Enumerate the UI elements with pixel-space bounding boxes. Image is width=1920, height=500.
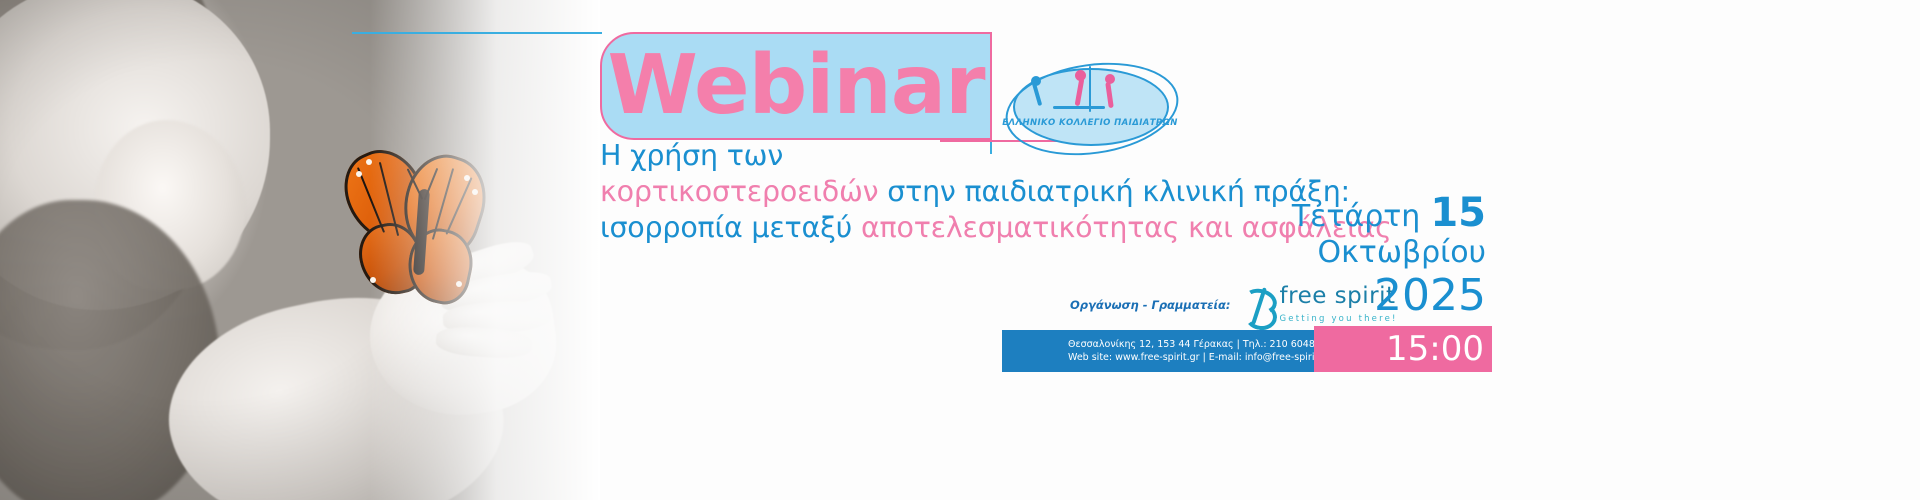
- title-line-1: Η χρήση των: [600, 138, 1300, 174]
- rule-horizontal-top: [352, 32, 602, 34]
- webinar-title: Η χρήση των κορτικοστεροειδών στην παιδι…: [600, 138, 1300, 246]
- logo-pole: [1089, 66, 1091, 112]
- webinar-badge: Webinar: [600, 32, 992, 140]
- event-date: Τετάρτη 15 Οκτωβρίου 2025: [1314, 196, 1492, 326]
- title-line2-seg1: κορτικοστεροειδών: [600, 175, 887, 208]
- title-line2-seg2: στην παιδιατρική κλινική πράξη:: [887, 175, 1350, 208]
- webinar-label: Webinar: [607, 45, 984, 127]
- date-day-of-week: Τετάρτη: [1292, 200, 1421, 234]
- date-year: 2025: [1314, 272, 1486, 320]
- title-line3-seg1: ισορροπία μεταξύ: [600, 211, 861, 244]
- logo-figure-pink-head: [1075, 70, 1086, 81]
- date-month: Οκτωβρίου: [1314, 234, 1486, 272]
- hero-photo-girl-with-butterfly: [0, 0, 600, 500]
- free-spirit-mark-icon: [1241, 288, 1275, 324]
- date-day-number: 15: [1430, 196, 1486, 230]
- event-time-badge: 15:00: [1314, 326, 1492, 372]
- title-line1-seg1: Η χρήση των: [600, 139, 783, 172]
- photo-fade: [370, 0, 600, 500]
- date-row-day: Τετάρτη 15: [1314, 196, 1486, 234]
- footer-address: Θεσσαλονίκης 12, 153 44 Γέρακας | Τηλ.: …: [1068, 338, 1314, 352]
- footer-web-email[interactable]: Web site: www.free-spirit.gr | E-mail: i…: [1068, 351, 1314, 365]
- footer-contact-bar: Θεσσαλονίκης 12, 153 44 Γέρακας | Τηλ.: …: [1002, 330, 1314, 372]
- logo-figure-pink-2-head: [1105, 74, 1115, 84]
- title-line-3: ισορροπία μεταξύ αποτελεσματικότητας και…: [600, 210, 1300, 246]
- logo-figure-blue-head: [1031, 76, 1041, 86]
- organizer-label: Οργάνωση - Γραμματεία:: [1070, 298, 1231, 312]
- webinar-banner: Webinar ΕΛΛΗΝΙΚΟ ΚΟΛΛΕΓΙΟ ΠΑΙΔΙΑΤΡΩΝ Η χ…: [0, 0, 1920, 500]
- logo-bar: [1053, 106, 1105, 109]
- title-line-2: κορτικοστεροειδών στην παιδιατρική κλινι…: [600, 174, 1300, 210]
- event-time: 15:00: [1386, 332, 1484, 366]
